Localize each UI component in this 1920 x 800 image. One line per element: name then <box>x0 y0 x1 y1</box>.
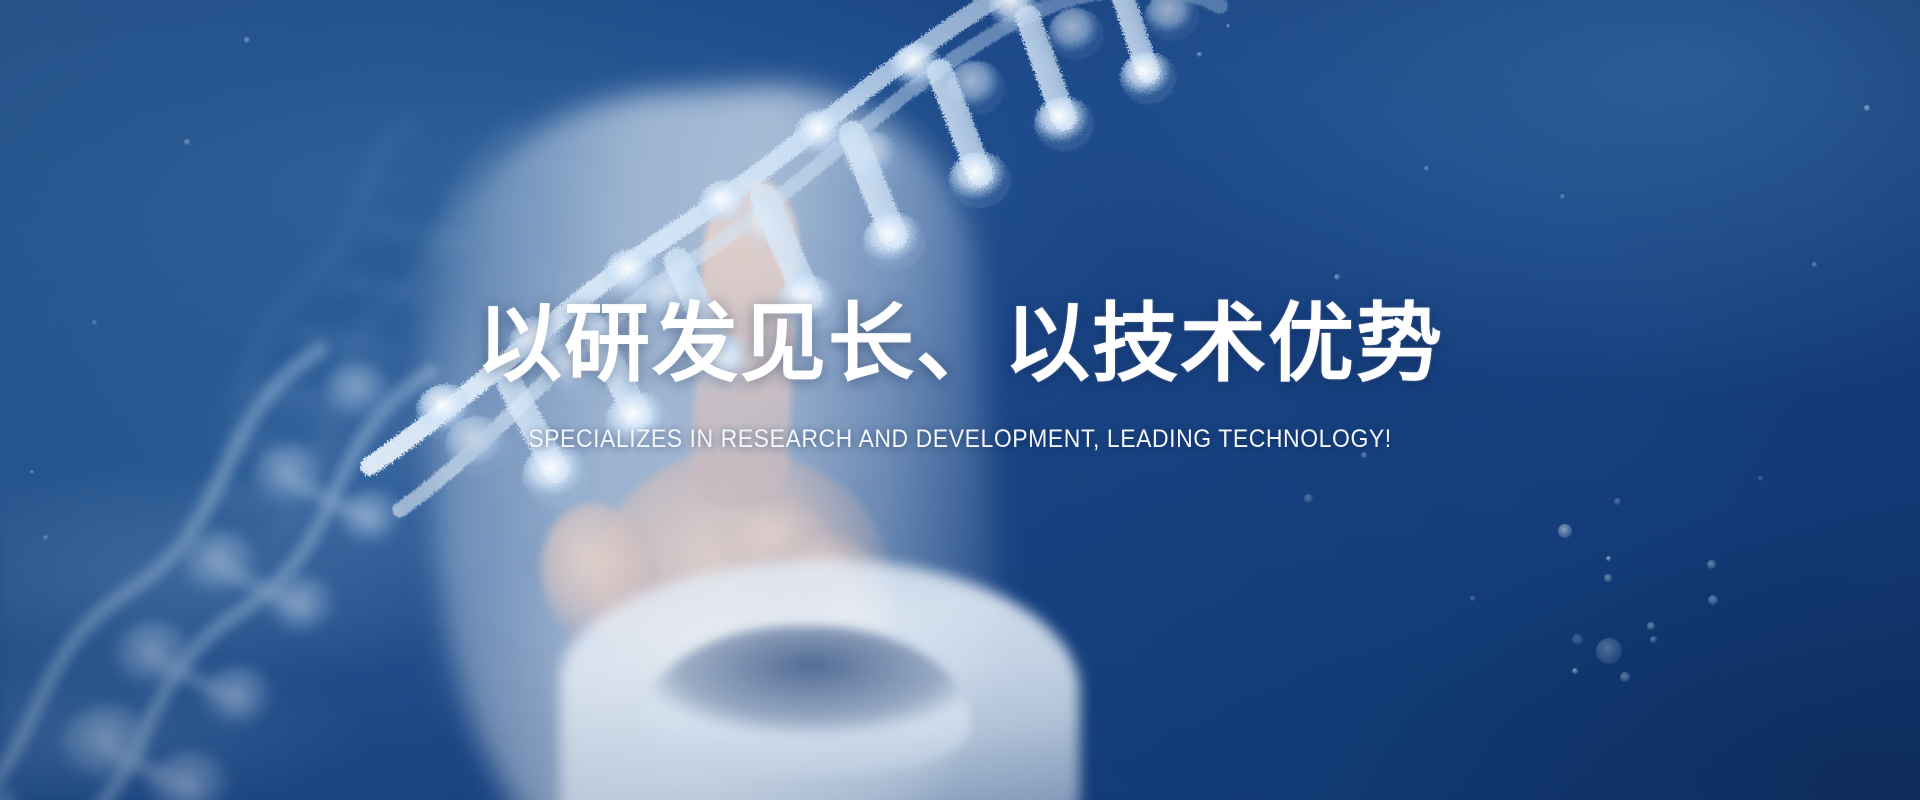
page-title: 以研发见长、以技术优势 <box>0 300 1920 389</box>
hero-copy: 以研发见长、以技术优势 SPECIALIZES IN RESEARCH AND … <box>0 300 1920 454</box>
hero-banner: 以研发见长、以技术优势 SPECIALIZES IN RESEARCH AND … <box>0 0 1920 800</box>
page-subtitle: SPECIALIZES IN RESEARCH AND DEVELOPMENT,… <box>77 425 1843 454</box>
